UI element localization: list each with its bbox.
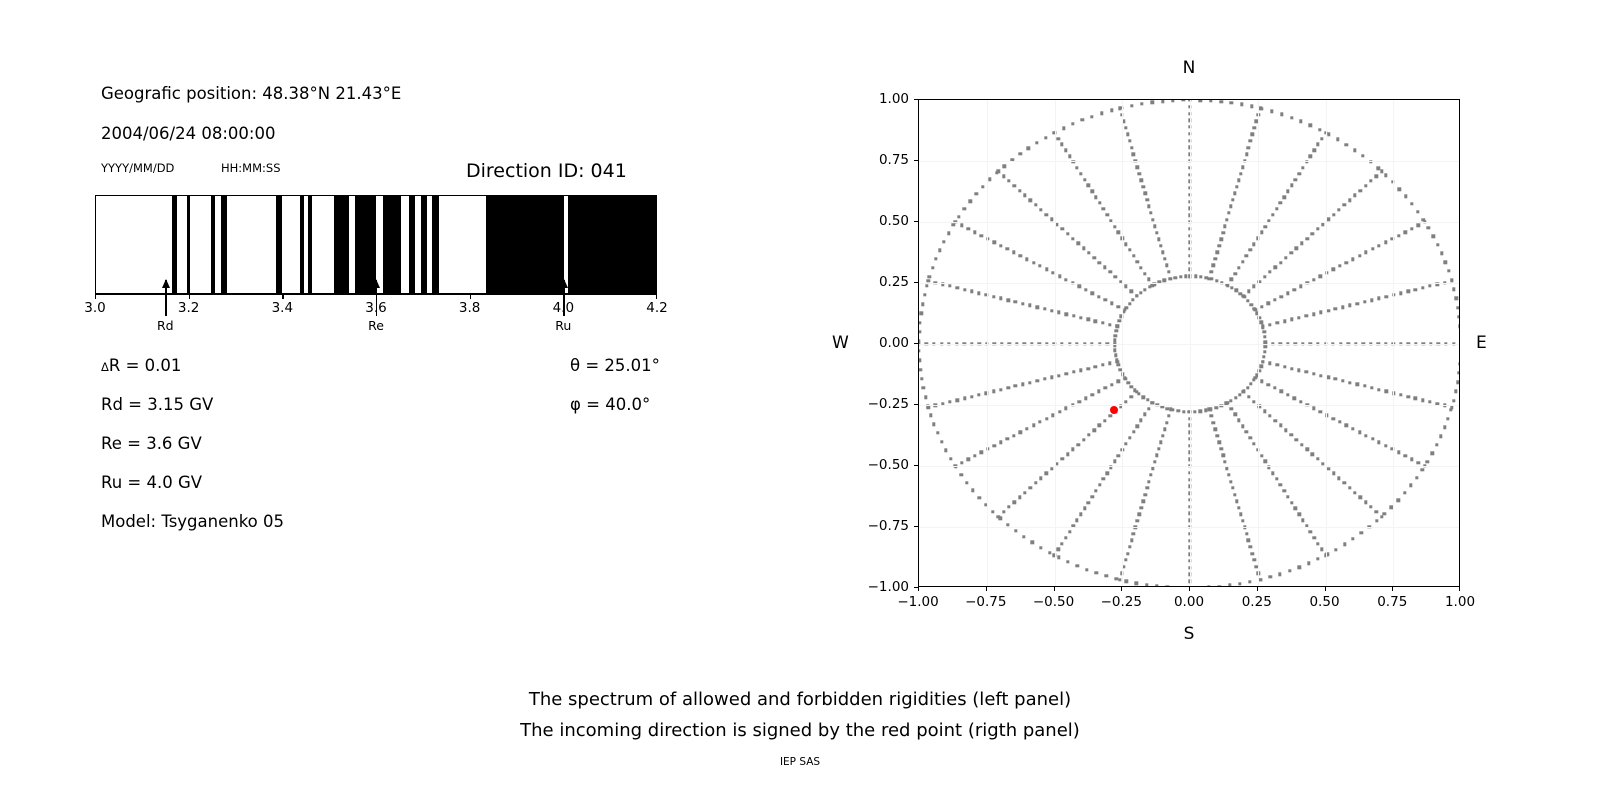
direction-dot <box>1313 149 1316 152</box>
direction-dot <box>1248 580 1251 583</box>
direction-dot <box>1023 491 1026 494</box>
direction-dot <box>1240 103 1243 106</box>
direction-dot <box>956 398 959 401</box>
figure-caption: The spectrum of allowed and forbidden ri… <box>0 684 1600 746</box>
direction-dot <box>1233 272 1236 275</box>
direction-dot <box>1143 272 1146 275</box>
direction-dot <box>1204 409 1207 412</box>
direction-dot <box>1258 578 1261 581</box>
direction-dot <box>1275 207 1278 210</box>
direction-dot <box>1147 205 1150 208</box>
direction-dot <box>960 224 963 227</box>
y-axis-tick-label: −0.25 <box>868 396 909 412</box>
direction-dot <box>1290 116 1293 119</box>
direction-dot <box>1079 513 1082 516</box>
gridline-vertical <box>1122 100 1123 586</box>
direction-dot <box>1334 377 1337 380</box>
gridline-vertical <box>1190 100 1191 586</box>
param-theta: θ = 25.01° <box>570 356 660 375</box>
direction-dot <box>1012 434 1015 437</box>
axis-tick <box>189 294 190 299</box>
direction-dot <box>1320 137 1323 140</box>
direction-dot <box>1113 460 1116 463</box>
direction-dot <box>1415 476 1418 479</box>
direction-dot <box>1398 187 1401 190</box>
direction-dot <box>1023 194 1026 197</box>
direction-dot <box>1369 179 1372 182</box>
direction-dot <box>1147 407 1150 410</box>
direction-dot <box>1153 224 1156 227</box>
direction-dot <box>1029 486 1032 489</box>
y-axis-tick <box>914 160 918 161</box>
direction-dot <box>1290 501 1293 504</box>
direction-dot <box>1431 452 1434 455</box>
direction-dot <box>1006 298 1009 301</box>
direction-dot <box>1176 586 1179 587</box>
direction-dot <box>1426 460 1429 463</box>
direction-dot <box>1138 513 1141 516</box>
direction-dot <box>956 286 959 289</box>
direction-dot <box>1092 256 1095 259</box>
direction-dot <box>1173 276 1176 279</box>
direction-dot <box>1228 584 1231 587</box>
direction-dot <box>1305 370 1308 373</box>
direction-dot <box>1286 495 1289 498</box>
direction-dot <box>1101 321 1104 324</box>
direction-dot <box>1458 362 1460 365</box>
direction-dot <box>1018 496 1021 499</box>
direction-dot <box>1385 390 1388 393</box>
param-rd: Rd = 3.15 GV <box>101 395 213 414</box>
forbidden-band <box>308 196 312 293</box>
direction-dot <box>1050 467 1053 470</box>
direction-dot <box>1309 530 1312 533</box>
direction-dot <box>1377 297 1380 300</box>
arrow-up-icon <box>560 279 568 288</box>
direction-dot <box>1014 384 1017 387</box>
direction-dot <box>1241 519 1244 522</box>
forbidden-band <box>486 196 564 293</box>
direction-dot <box>918 321 921 324</box>
direction-dot <box>1072 370 1075 373</box>
direction-dot <box>1229 480 1232 483</box>
direction-dot <box>1043 377 1046 380</box>
direction-dot <box>1264 345 1267 348</box>
direction-dot <box>1436 243 1439 246</box>
direction-dot <box>1343 481 1346 484</box>
direction-dot <box>1268 362 1271 365</box>
direction-dot <box>1348 304 1351 307</box>
x-axis-tick <box>1189 587 1190 591</box>
direction-dot <box>1021 383 1024 386</box>
direction-dot <box>1404 195 1407 198</box>
direction-dot <box>975 192 978 195</box>
direction-dot <box>1212 264 1215 267</box>
direction-dot <box>1113 225 1116 228</box>
direction-dot <box>1084 397 1087 400</box>
direction-dot <box>1452 287 1455 290</box>
direction-dot <box>1351 427 1354 430</box>
axis-tick <box>470 294 471 299</box>
direction-dot <box>1221 454 1224 457</box>
direction-dot <box>1032 261 1035 264</box>
direction-dot <box>1139 291 1142 294</box>
direction-dot <box>1249 382 1252 385</box>
direction-dot <box>1095 571 1098 574</box>
direction-dot <box>1397 451 1400 454</box>
direction-dot <box>1124 126 1127 129</box>
direction-dot <box>1031 541 1034 544</box>
direction-dot <box>1151 467 1154 470</box>
direction-dot <box>1075 166 1078 169</box>
direction-dot <box>1268 270 1271 273</box>
direction-dot <box>919 312 922 315</box>
direction-dot <box>1025 258 1028 261</box>
direction-dot <box>1252 400 1255 403</box>
direction-dot <box>1300 242 1303 245</box>
direction-dot <box>1260 305 1263 308</box>
direction-dot <box>1068 154 1071 157</box>
direction-dot <box>1060 143 1063 146</box>
direction-dot <box>1219 100 1222 103</box>
forbidden-band <box>409 196 415 293</box>
direction-dot <box>1130 539 1133 542</box>
direction-dot <box>1101 363 1104 366</box>
direction-dot <box>1084 288 1087 291</box>
direction-dot <box>1305 314 1308 317</box>
direction-dot <box>1045 268 1048 271</box>
gridline-horizontal <box>919 161 1459 162</box>
direction-dot <box>1143 493 1146 496</box>
param-delta-r-value: R = 0.01 <box>109 356 182 375</box>
direction-dot <box>1239 513 1242 516</box>
direction-dot <box>1312 278 1315 281</box>
direction-dot <box>920 377 923 380</box>
direction-dot <box>1082 438 1085 441</box>
direction-dot <box>1241 260 1244 263</box>
direction-dot <box>1209 407 1212 410</box>
direction-dot <box>1108 270 1111 273</box>
direction-dot <box>1279 201 1282 204</box>
direction-dot <box>1459 353 1460 356</box>
direction-dot <box>918 358 921 361</box>
direction-dot <box>1250 303 1253 306</box>
compass-north-label: N <box>1183 58 1196 78</box>
y-axis-tick <box>914 99 918 100</box>
direction-dot <box>1223 460 1226 463</box>
direction-dot <box>1098 483 1101 486</box>
direction-dot <box>1247 290 1250 293</box>
direction-dot <box>1083 507 1086 510</box>
direction-dot <box>1443 426 1446 429</box>
direction-dot <box>1318 128 1321 131</box>
gridline-horizontal <box>919 283 1459 284</box>
direction-dot <box>1108 362 1111 365</box>
direction-dot <box>1242 390 1245 393</box>
direction-dot <box>1267 383 1270 386</box>
direction-dot <box>1117 380 1120 383</box>
direction-dot <box>973 230 976 233</box>
direction-dot <box>1301 166 1304 169</box>
direction-dot <box>932 423 935 426</box>
marker-label: Re <box>368 318 384 333</box>
direction-dot <box>1371 247 1374 250</box>
direction-dot <box>1309 124 1312 127</box>
direction-dot <box>1271 471 1274 474</box>
direction-dot <box>1117 319 1120 322</box>
direction-dot <box>1428 284 1431 287</box>
direction-dot <box>1421 468 1424 471</box>
direction-dot <box>1193 410 1196 413</box>
direction-dot <box>1249 436 1252 439</box>
direction-dot <box>1090 291 1093 294</box>
direction-dot <box>1163 279 1166 282</box>
direction-dot <box>1233 493 1236 496</box>
direction-dot <box>1079 316 1082 319</box>
direction-dot <box>1261 360 1264 363</box>
direction-dot <box>1421 286 1424 289</box>
x-axis-tick <box>1325 587 1326 591</box>
direction-dot <box>1168 277 1171 280</box>
direction-dot <box>1353 491 1356 494</box>
direction-dot <box>921 302 924 305</box>
direction-dot <box>1038 420 1041 423</box>
direction-dot <box>1234 289 1237 292</box>
direction-dot <box>1326 309 1329 312</box>
direction-dot <box>1454 390 1457 393</box>
direction-dot <box>1221 231 1224 234</box>
direction-dot <box>1126 552 1129 555</box>
direction-dot <box>1295 438 1298 441</box>
direction-dot <box>973 454 976 457</box>
direction-dot <box>1028 381 1031 384</box>
direction-dot <box>1375 510 1378 513</box>
direction-dot <box>1140 179 1143 182</box>
x-axis-tick <box>1392 587 1393 591</box>
direction-dot <box>1090 495 1093 498</box>
direction-dot <box>1289 251 1292 254</box>
direction-dot <box>999 517 1002 520</box>
direction-dot <box>1138 172 1141 175</box>
direction-dot <box>1283 365 1286 368</box>
direction-dot <box>1403 491 1406 494</box>
direction-dot <box>1143 413 1146 416</box>
direction-dot <box>1270 110 1273 113</box>
direction-dot <box>1166 585 1169 587</box>
direction-dot <box>1356 302 1359 305</box>
direction-dot <box>1369 505 1372 508</box>
direction-dot <box>1234 396 1237 399</box>
direction-dot <box>1090 115 1093 118</box>
y-axis-tick-label: 1.00 <box>879 91 909 107</box>
direction-dot <box>1227 211 1230 214</box>
y-axis-tick <box>914 282 918 283</box>
direction-dot <box>1297 513 1300 516</box>
direction-dot <box>1018 152 1021 155</box>
direction-dot <box>1447 269 1450 272</box>
direction-dot <box>1064 149 1067 152</box>
direction-dot <box>1225 467 1228 470</box>
direction-dot <box>1139 419 1142 422</box>
direction-dot <box>1227 473 1230 476</box>
direction-dot <box>1316 457 1319 460</box>
direction-dot <box>1155 454 1158 457</box>
direction-dot <box>1343 543 1346 546</box>
direction-dot <box>1449 408 1452 411</box>
delta-symbol: Δ <box>101 360 109 374</box>
direction-dot <box>1245 152 1248 155</box>
direction-dot <box>1334 548 1337 551</box>
direction-dot <box>980 234 983 237</box>
direction-dot <box>1251 133 1254 136</box>
direction-dot <box>1132 254 1135 257</box>
direction-dot <box>1125 306 1128 309</box>
direction-dot <box>1060 542 1063 545</box>
direction-dot <box>1410 202 1413 205</box>
direction-dot <box>1275 477 1278 480</box>
forbidden-band <box>432 196 439 293</box>
direction-dot <box>1161 434 1164 437</box>
direction-dot <box>1130 146 1133 149</box>
direction-dot <box>1115 577 1118 580</box>
direction-dot <box>1249 139 1252 142</box>
direction-dot <box>1077 400 1080 403</box>
direction-dot <box>1014 529 1017 532</box>
direction-dot <box>1241 424 1244 427</box>
gridline-horizontal <box>919 222 1459 223</box>
direction-dot <box>1057 137 1060 140</box>
direction-dot <box>1064 536 1067 539</box>
direction-dot <box>1385 295 1388 298</box>
x-axis-tick <box>1054 587 1055 591</box>
direction-dot <box>1151 401 1154 404</box>
direction-dot <box>1282 489 1285 492</box>
x-axis-tick <box>918 587 919 591</box>
direction-dot <box>1159 441 1162 444</box>
direction-dot <box>1268 414 1271 417</box>
direction-dot <box>1199 275 1202 278</box>
direction-dot <box>1280 113 1283 116</box>
direction-dot <box>1439 434 1442 437</box>
direction-dot <box>1239 292 1242 295</box>
direction-dot <box>1231 486 1234 489</box>
axis-tick-label: 3.2 <box>178 300 199 316</box>
direction-dot <box>1065 312 1068 315</box>
direction-dot <box>1145 486 1148 489</box>
direction-dot <box>1058 410 1061 413</box>
direction-dot <box>1066 560 1069 563</box>
compass-south-label: S <box>1184 624 1195 644</box>
gridline-vertical <box>1393 100 1394 586</box>
direction-dot <box>1124 242 1127 245</box>
direction-dot <box>1012 251 1015 254</box>
direction-dot <box>1002 510 1005 513</box>
direction-dot <box>1364 251 1367 254</box>
direction-dot <box>1045 417 1048 420</box>
direction-dot <box>1167 270 1170 273</box>
direction-dot <box>1061 227 1064 230</box>
direction-dot <box>1142 499 1145 502</box>
direction-dot <box>1250 105 1253 108</box>
direction-dot <box>1320 548 1323 551</box>
direction-dot <box>967 458 970 461</box>
direction-dot <box>971 488 974 491</box>
direction-dot <box>1146 398 1149 401</box>
direction-dot <box>1435 443 1438 446</box>
y-axis-tick <box>914 343 918 344</box>
forbidden-band <box>383 196 401 293</box>
x-axis-tick-label: −1.00 <box>897 594 938 610</box>
direction-dot <box>1163 427 1166 430</box>
direction-dot <box>1132 430 1135 433</box>
direction-dot <box>940 440 943 443</box>
direction-dot <box>993 241 996 244</box>
direction-dot <box>1006 437 1009 440</box>
direction-dot <box>1132 532 1135 535</box>
direction-dot <box>1230 101 1233 104</box>
direction-dot <box>1209 99 1212 102</box>
direction-dot <box>1117 363 1120 366</box>
direction-dot <box>1215 406 1218 409</box>
direction-dot <box>1327 467 1330 470</box>
direction-dot <box>1159 244 1162 247</box>
direction-dot <box>1356 383 1359 386</box>
direction-dot <box>1045 213 1048 216</box>
x-axis-tick-label: −0.25 <box>1101 594 1142 610</box>
direction-dot <box>1359 189 1362 192</box>
direction-dot <box>1312 407 1315 410</box>
direction-dot <box>1039 208 1042 211</box>
direction-dot <box>1313 536 1316 539</box>
direction-dot <box>970 290 973 293</box>
caption-line-2: The incoming direction is signed by the … <box>0 715 1600 746</box>
direction-dot <box>1377 167 1380 170</box>
direction-dot <box>1294 178 1297 181</box>
direction-dot <box>1273 298 1276 301</box>
direction-dot <box>1094 365 1097 368</box>
direction-dot <box>1235 185 1238 188</box>
direction-dot <box>1013 184 1016 187</box>
axis-tick <box>95 294 96 299</box>
direction-dot <box>991 510 994 513</box>
direction-dot <box>1137 392 1140 395</box>
direction-dot <box>999 297 1002 300</box>
direction-dot <box>1197 586 1200 587</box>
direction-dot <box>1459 342 1460 345</box>
direction-dot <box>1075 518 1078 521</box>
x-axis-tick-label: −0.50 <box>1033 594 1074 610</box>
direction-dot <box>1276 321 1279 324</box>
direction-dot <box>1377 388 1380 391</box>
direction-dot <box>1081 118 1084 121</box>
direction-dot <box>1057 311 1060 314</box>
direction-dot <box>1214 257 1217 260</box>
direction-dot <box>1316 557 1319 560</box>
footer-credit: IEP SAS <box>0 756 1600 768</box>
figure-root: Geografic position: 48.38°N 21.43°E 2004… <box>0 0 1600 800</box>
direction-dot <box>1237 506 1240 509</box>
direction-dot <box>1167 414 1170 417</box>
direction-dot <box>1115 358 1118 361</box>
direction-dot <box>1233 413 1236 416</box>
direction-dot <box>1145 198 1148 201</box>
direction-dot <box>1410 227 1413 230</box>
direction-dot <box>1457 371 1460 374</box>
direction-dot <box>1316 227 1319 230</box>
direction-dot <box>1163 257 1166 260</box>
direction-dot <box>1397 234 1400 237</box>
direction-dot <box>1061 457 1064 460</box>
